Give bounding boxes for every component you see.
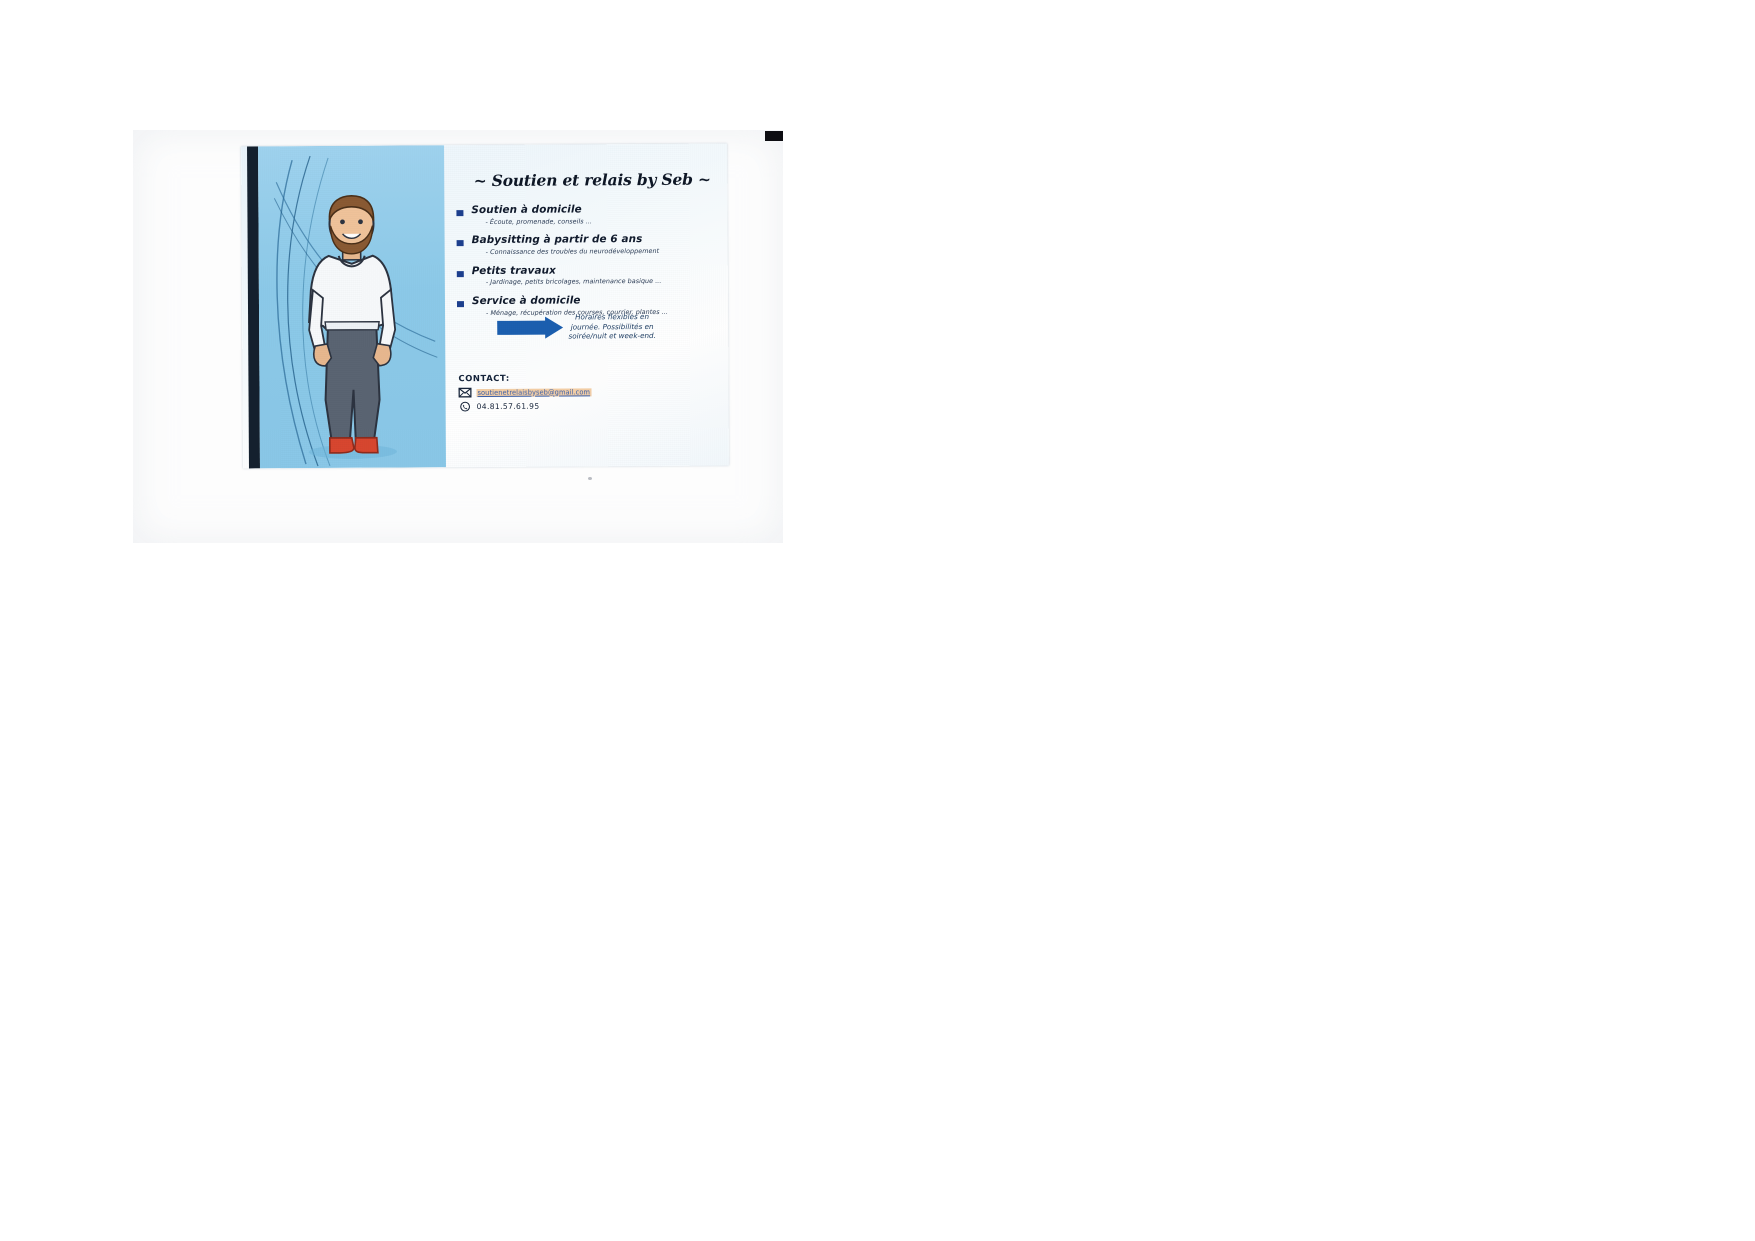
service-title: Petits travaux xyxy=(472,264,728,277)
service-title: Soutien à domicile xyxy=(471,204,727,217)
service-title: Babysitting à partir de 6 ans xyxy=(472,234,728,247)
bullet-square-icon xyxy=(457,240,464,246)
document-page: Horaires flexibles en journée. Possibili… xyxy=(0,0,1755,1241)
contact-heading: CONTACT: xyxy=(458,372,728,384)
contact-block: CONTACT: soutienetrelaisbyseb@gmail.com … xyxy=(458,372,728,416)
service-list: Soutien à domicile - Écoute, promenade, … xyxy=(453,204,728,327)
card-title: ~ Soutien et relais by Seb ~ xyxy=(457,170,727,191)
bullet-square-icon xyxy=(456,210,463,216)
contact-email-link[interactable]: soutienetrelaisbyseb@gmail.com xyxy=(477,388,592,397)
contact-phone-row[interactable]: 04.81.57.61.95 xyxy=(459,400,729,413)
illustration-panel xyxy=(258,145,446,468)
service-detail: - Écoute, promenade, conseils ... xyxy=(471,217,727,226)
business-card: Horaires flexibles en journée. Possibili… xyxy=(241,144,729,469)
phone-icon xyxy=(459,401,472,412)
service-item-petits-travaux: Petits travaux - Jardinage, petits brico… xyxy=(454,264,728,287)
service-item-service-a-domicile: Service à domicile - Ménage, récupératio… xyxy=(454,295,728,318)
service-detail: - Ménage, récupération des courses, cour… xyxy=(472,308,728,317)
envelope-icon xyxy=(458,387,471,398)
scan-artifact-mark xyxy=(765,131,783,141)
service-detail: - Connaissance des troubles du neurodéve… xyxy=(472,247,728,256)
service-title: Service à domicile xyxy=(472,295,728,308)
service-detail: - Jardinage, petits bricolages, maintena… xyxy=(472,278,728,287)
service-item-soutien-a-domicile: Soutien à domicile - Écoute, promenade, … xyxy=(453,204,727,227)
service-item-babysitting: Babysitting à partir de 6 ans - Connaiss… xyxy=(454,234,728,257)
illustrated-man-figure xyxy=(280,193,424,462)
card-content-column: ~ Soutien et relais by Seb ~ Soutien à d… xyxy=(449,144,729,468)
scan-speck-mark xyxy=(588,477,592,480)
bullet-square-icon xyxy=(457,271,464,277)
contact-phone-number[interactable]: 04.81.57.61.95 xyxy=(477,402,540,411)
contact-email-row[interactable]: soutienetrelaisbyseb@gmail.com xyxy=(458,386,728,399)
bullet-square-icon xyxy=(457,301,464,307)
